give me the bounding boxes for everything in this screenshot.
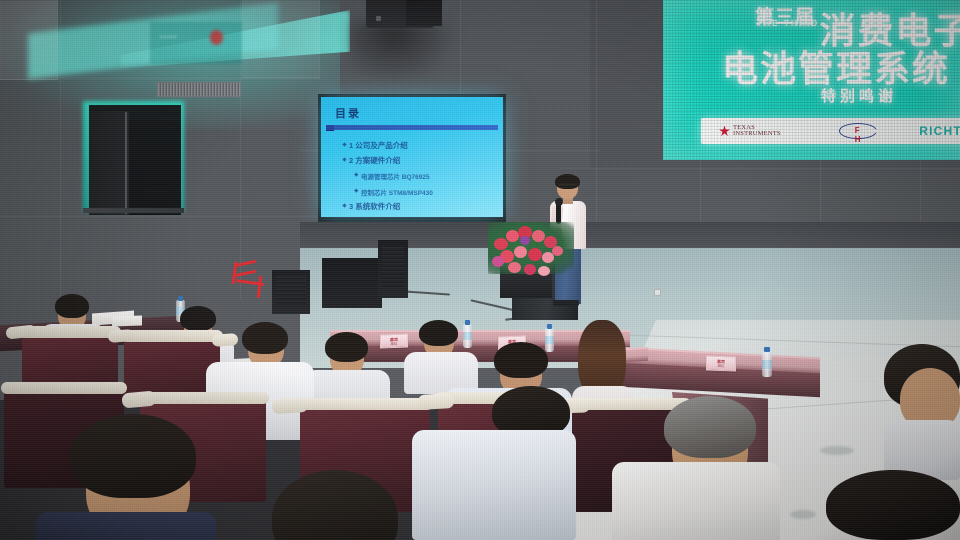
speaker-grille <box>382 245 404 289</box>
audience-hair <box>180 306 216 331</box>
seat-headrest <box>137 392 269 404</box>
secondary-display-reflection: ▪▪▪▪▪ <box>150 22 242 64</box>
sponsor-logo-texas-instruments: TEXAS INSTRUMENTS <box>719 125 781 138</box>
slide-title: 目录 <box>335 105 361 121</box>
floor-speaker <box>378 240 408 298</box>
chair-backrest <box>234 270 256 278</box>
seat-armrest <box>418 393 455 410</box>
flower-petal <box>514 246 527 258</box>
bullet-marker <box>354 188 358 192</box>
ceiling-speaker-secondary <box>406 0 442 26</box>
flower-petal <box>508 262 521 273</box>
secondary-display-logo <box>210 30 223 45</box>
glasses-icon <box>558 184 577 188</box>
flower-petal <box>524 264 536 275</box>
placard-line-2: 席位 <box>718 364 725 368</box>
seat-armrest <box>212 333 239 347</box>
seat-headrest <box>1 382 127 394</box>
bullet-marker <box>342 157 346 161</box>
audience-hair <box>325 332 368 362</box>
bottle-label <box>762 360 772 369</box>
slide-subbullet: 电源管理芯片 BQ76925 <box>361 171 430 181</box>
audience-shirt <box>36 512 216 540</box>
floor-scuff <box>790 510 816 519</box>
wall-seam <box>560 168 960 169</box>
flower-petal <box>538 266 550 276</box>
bullet-marker <box>342 203 346 207</box>
seat-headrest <box>297 398 433 410</box>
air-vent <box>157 82 241 97</box>
sponsor-logo-strip: TEXAS INSTRUMENTS F H RICHTEK <box>701 118 960 144</box>
flower-petal <box>492 256 504 267</box>
wall-outlet <box>654 289 661 296</box>
red-folding-chair <box>232 262 266 298</box>
audience-hair <box>419 320 458 346</box>
speaker-grille <box>276 274 306 306</box>
flower-petal <box>532 230 545 242</box>
flower-petal <box>552 246 563 256</box>
paper-document <box>112 315 142 326</box>
water-bottle <box>545 324 554 352</box>
audience-hair <box>55 294 89 318</box>
bullet-marker <box>342 142 346 146</box>
microphone-head-icon <box>555 198 563 206</box>
led-banner: 第三届 消费电子 THE THIRD 电池管理系统 特别鸣谢 TEXAS INS… <box>663 0 960 160</box>
sponsor-logo-richtek: RICHTEK <box>919 124 960 138</box>
ti-wordmark: TEXAS INSTRUMENTS <box>733 125 781 138</box>
audience-hair <box>242 322 288 354</box>
projection-screen: 目录 1 公司及产品介绍 2 方案硬件介绍 电源管理芯片 BQ76925 控制芯… <box>321 97 503 217</box>
bottle-label <box>545 336 554 344</box>
bottle-cap <box>178 296 183 301</box>
stage-speaker-cabinet <box>322 258 382 308</box>
led-thanks-label: 特别鸣谢 <box>821 85 897 106</box>
bottle-cap <box>465 320 470 325</box>
secondary-display-text: ▪▪▪▪▪ <box>160 34 177 41</box>
floor-scuff <box>820 446 854 455</box>
door-jamb <box>125 112 127 214</box>
floor-speaker <box>272 270 310 314</box>
water-bottle <box>762 347 772 377</box>
speaker-mount-bolt <box>376 16 381 21</box>
wall-seam <box>0 216 320 217</box>
slide-subbullet: 控制芯片 STM8/MSP430 <box>361 187 433 197</box>
audience-hair <box>494 342 548 378</box>
flower-petal <box>494 238 508 250</box>
bottle-cap <box>547 324 552 329</box>
led-english-subtitle: THE THIRD <box>757 19 819 28</box>
texas-instruments-icon <box>719 126 730 137</box>
flower-arrangement <box>488 222 574 294</box>
sponsor-logo-middle: F H <box>839 123 878 139</box>
seat-armrest <box>108 329 135 343</box>
doorway-threshold <box>83 208 184 213</box>
name-placard: 嘉宾 席位 <box>380 334 408 349</box>
seat-headrest <box>121 330 223 342</box>
seat-armrest <box>272 397 309 414</box>
chair-leg <box>257 276 262 298</box>
water-bottle <box>463 320 472 348</box>
audience-hair-grey <box>664 396 756 458</box>
bottle-cap <box>764 347 770 352</box>
bullet-marker <box>354 172 358 176</box>
flower-petal <box>528 248 542 261</box>
slide-bullet: 3 系统软件介绍 <box>349 201 400 212</box>
door-leaf <box>89 111 129 215</box>
audience-shirt <box>612 462 780 540</box>
slide-bullet: 2 方案硬件介绍 <box>349 155 400 166</box>
conference-photo-scene: ▪▪▪▪▪ 第三届 消费电子 THE THIRD 电池管理系统 特别鸣谢 <box>0 0 960 540</box>
led-subtitle: 电池管理系统 <box>722 48 950 89</box>
presenter-shoes <box>553 300 579 306</box>
name-placard: 嘉宾 席位 <box>706 355 736 371</box>
slide-divider <box>326 125 498 130</box>
audience-hair <box>826 470 960 540</box>
middle-sponsor-wordmark: F H <box>855 126 878 144</box>
bottle-label <box>463 332 472 340</box>
placard-line-2: 席位 <box>391 341 398 345</box>
audience-hair <box>70 414 196 498</box>
slide-bullet: 1 公司及产品介绍 <box>349 140 408 151</box>
flower-petal <box>520 236 530 245</box>
audience-shirt <box>412 430 576 540</box>
